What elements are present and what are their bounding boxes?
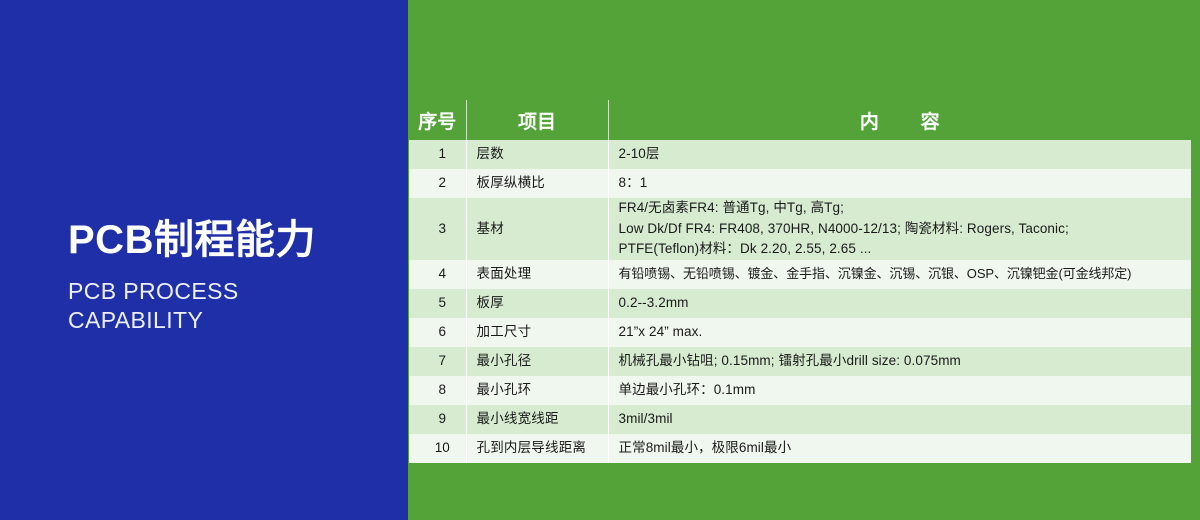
cell-no: 8 [409, 376, 466, 405]
cell-item: 孔到内层导线距离 [466, 434, 608, 463]
cell-content: 0.2--3.2mm [608, 289, 1191, 318]
column-header-item: 项目 [466, 100, 608, 140]
table-row: 2 板厚纵横比 8：1 [409, 169, 1191, 198]
pcb-capability-table: 序号 项目 内 容 1 层数 2-10层 2 板厚纵横比 8：1 3 [409, 100, 1191, 463]
cell-content: 3mil/3mil [608, 405, 1191, 434]
page-title-en-line1: PCB PROCESS [68, 277, 398, 306]
cell-item: 板厚 [466, 289, 608, 318]
cell-item: 最小孔径 [466, 347, 608, 376]
table-row: 9 最小线宽线距 3mil/3mil [409, 405, 1191, 434]
page-title-en-line2: CAPABILITY [68, 306, 398, 335]
content-panel: 序号 项目 内 容 1 层数 2-10层 2 板厚纵横比 8：1 3 [408, 0, 1200, 520]
cell-no: 9 [409, 405, 466, 434]
cell-item: 板厚纵横比 [466, 169, 608, 198]
cell-no: 6 [409, 318, 466, 347]
cell-item: 加工尺寸 [466, 318, 608, 347]
cell-content: 正常8mil最小，极限6mil最小 [608, 434, 1191, 463]
table-body: 1 层数 2-10层 2 板厚纵横比 8：1 3 基材 FR4/无卤素FR4: … [409, 140, 1191, 463]
cell-no: 2 [409, 169, 466, 198]
cell-no: 3 [409, 198, 466, 260]
cell-no: 7 [409, 347, 466, 376]
title-block: PCB制程能力 PCB PROCESS CAPABILITY [68, 218, 398, 336]
column-header-no: 序号 [409, 100, 466, 140]
table-row: 1 层数 2-10层 [409, 140, 1191, 169]
cell-content: 机械孔最小钻咀; 0.15mm; 镭射孔最小drill size: 0.075m… [608, 347, 1191, 376]
table-row: 8 最小孔环 单边最小孔环：0.1mm [409, 376, 1191, 405]
table-header-row: 序号 项目 内 容 [409, 100, 1191, 140]
cell-content: FR4/无卤素FR4: 普通Tg, 中Tg, 高Tg; Low Dk/Df FR… [608, 198, 1191, 260]
column-header-content: 内 容 [608, 100, 1191, 140]
cell-content: 单边最小孔环：0.1mm [608, 376, 1191, 405]
slide-root: PCB制程能力 PCB PROCESS CAPABILITY 序号 项目 内 容 [0, 0, 1200, 520]
cell-content: 2-10层 [608, 140, 1191, 169]
cell-item: 最小线宽线距 [466, 405, 608, 434]
hero-panel: PCB制程能力 PCB PROCESS CAPABILITY [0, 0, 408, 520]
cell-no: 5 [409, 289, 466, 318]
cell-no: 1 [409, 140, 466, 169]
table-row: 10 孔到内层导线距离 正常8mil最小，极限6mil最小 [409, 434, 1191, 463]
cell-content: 8：1 [608, 169, 1191, 198]
cell-no: 10 [409, 434, 466, 463]
cell-content: 有铅喷锡、无铅喷锡、镀金、金手指、沉镍金、沉锡、沉银、OSP、沉镍钯金(可金线邦… [608, 260, 1191, 289]
table-row: 5 板厚 0.2--3.2mm [409, 289, 1191, 318]
table-row: 3 基材 FR4/无卤素FR4: 普通Tg, 中Tg, 高Tg; Low Dk/… [409, 198, 1191, 260]
cell-no: 4 [409, 260, 466, 289]
cell-item: 表面处理 [466, 260, 608, 289]
table-row: 6 加工尺寸 21”x 24” max. [409, 318, 1191, 347]
cell-item: 基材 [466, 198, 608, 260]
cell-item: 最小孔环 [466, 376, 608, 405]
cell-item: 层数 [466, 140, 608, 169]
table-header: 序号 项目 内 容 [409, 100, 1191, 140]
table-row: 4 表面处理 有铅喷锡、无铅喷锡、镀金、金手指、沉镍金、沉锡、沉银、OSP、沉镍… [409, 260, 1191, 289]
page-title-en: PCB PROCESS CAPABILITY [68, 277, 398, 336]
table-row: 7 最小孔径 机械孔最小钻咀; 0.15mm; 镭射孔最小drill size:… [409, 347, 1191, 376]
page-title-cn: PCB制程能力 [68, 218, 398, 263]
cell-content: 21”x 24” max. [608, 318, 1191, 347]
